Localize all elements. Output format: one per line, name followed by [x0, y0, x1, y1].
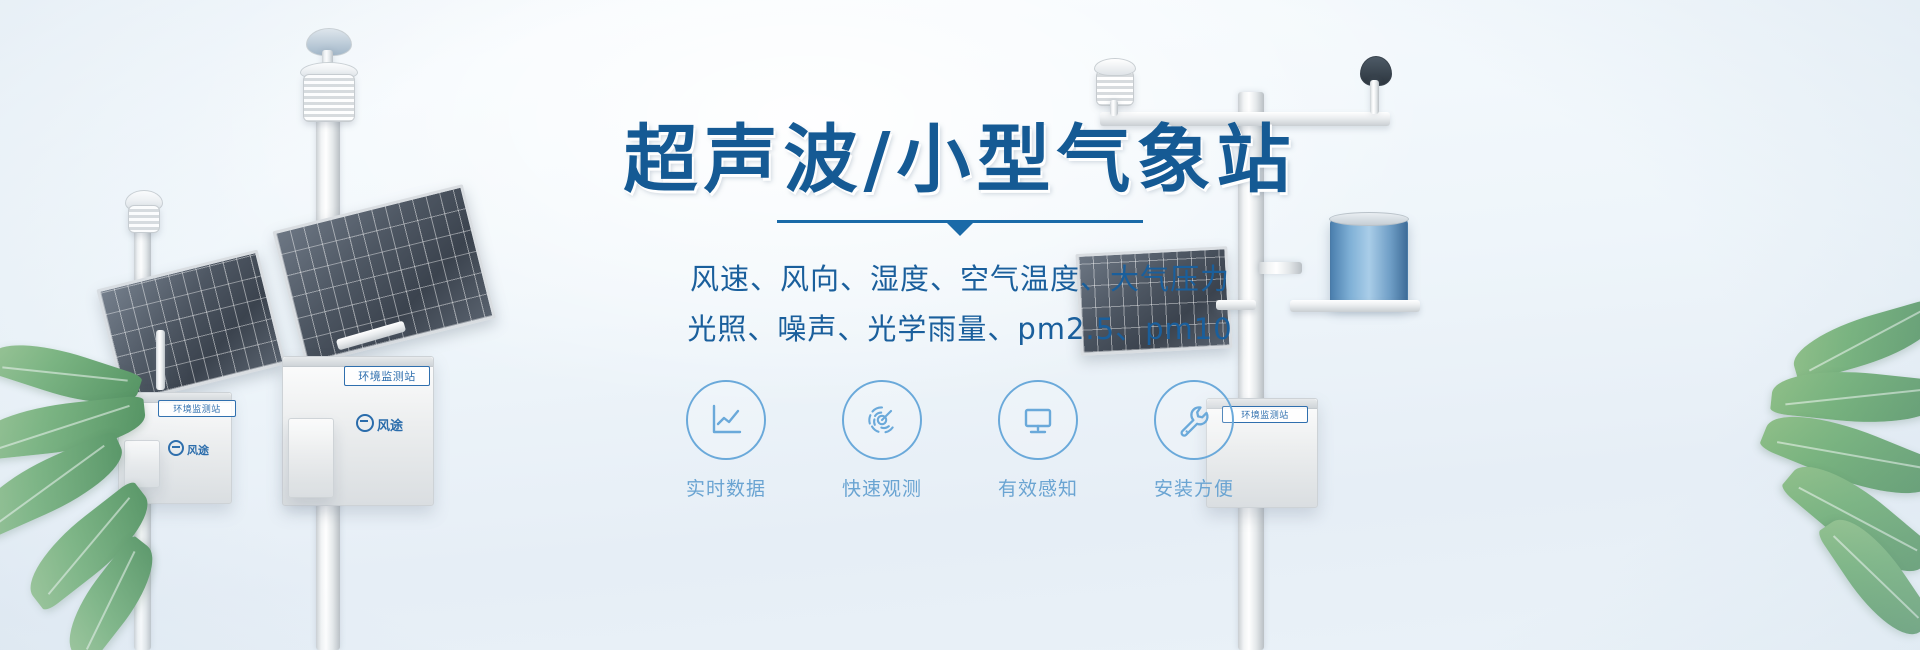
- equipment-label: 环境监测站: [158, 400, 236, 417]
- sensor-stem: [1110, 100, 1118, 116]
- feature-label: 有效感知: [998, 474, 1078, 501]
- brand-mark: 风途: [168, 440, 209, 458]
- solar-panel: [1075, 246, 1232, 356]
- brand-text: 风途: [187, 444, 209, 457]
- rain-gauge: [1330, 218, 1408, 306]
- line-chart-icon: [686, 380, 766, 460]
- radiation-shield: [128, 205, 160, 233]
- camera-stem: [1370, 80, 1379, 114]
- panel-arm: [1216, 300, 1256, 310]
- brand-text: 风途: [377, 419, 403, 434]
- radiation-shield: [303, 74, 355, 122]
- feature-label: 快速观测: [842, 474, 922, 501]
- brand-icon: [168, 440, 184, 456]
- equipment-label: 环境监测站: [1222, 406, 1308, 423]
- support-shelf: [1290, 300, 1420, 312]
- feature-item-realtime-data[interactable]: 实时数据: [686, 380, 766, 501]
- feature-item-easy-install[interactable]: 安装方便: [1154, 380, 1234, 501]
- battery-box: [288, 418, 334, 498]
- sky-background: [0, 0, 1920, 650]
- feature-label: 安装方便: [1154, 474, 1234, 501]
- rain-gauge-lid: [1329, 212, 1409, 226]
- feature-item-effective-sensing[interactable]: 有效感知: [998, 380, 1078, 501]
- product-banner: 环境监测站 风途 环境监测站 风途: [0, 0, 1920, 650]
- sensor-cap: [1094, 58, 1136, 76]
- feature-item-fast-observation[interactable]: 快速观测: [842, 380, 922, 501]
- battery-box: [124, 440, 160, 488]
- radar-scan-icon: [842, 380, 922, 460]
- wrench-icon: [1154, 380, 1234, 460]
- cross-arm: [1100, 112, 1390, 126]
- monitor-icon: [998, 380, 1078, 460]
- equipment-label: 环境监测站: [344, 366, 430, 386]
- bracket: [1258, 262, 1302, 274]
- feature-label: 实时数据: [686, 474, 766, 501]
- panel-support: [156, 330, 165, 390]
- mast-pole: [1238, 92, 1264, 650]
- brand-mark: 风途: [356, 414, 403, 434]
- brand-icon: [356, 414, 374, 432]
